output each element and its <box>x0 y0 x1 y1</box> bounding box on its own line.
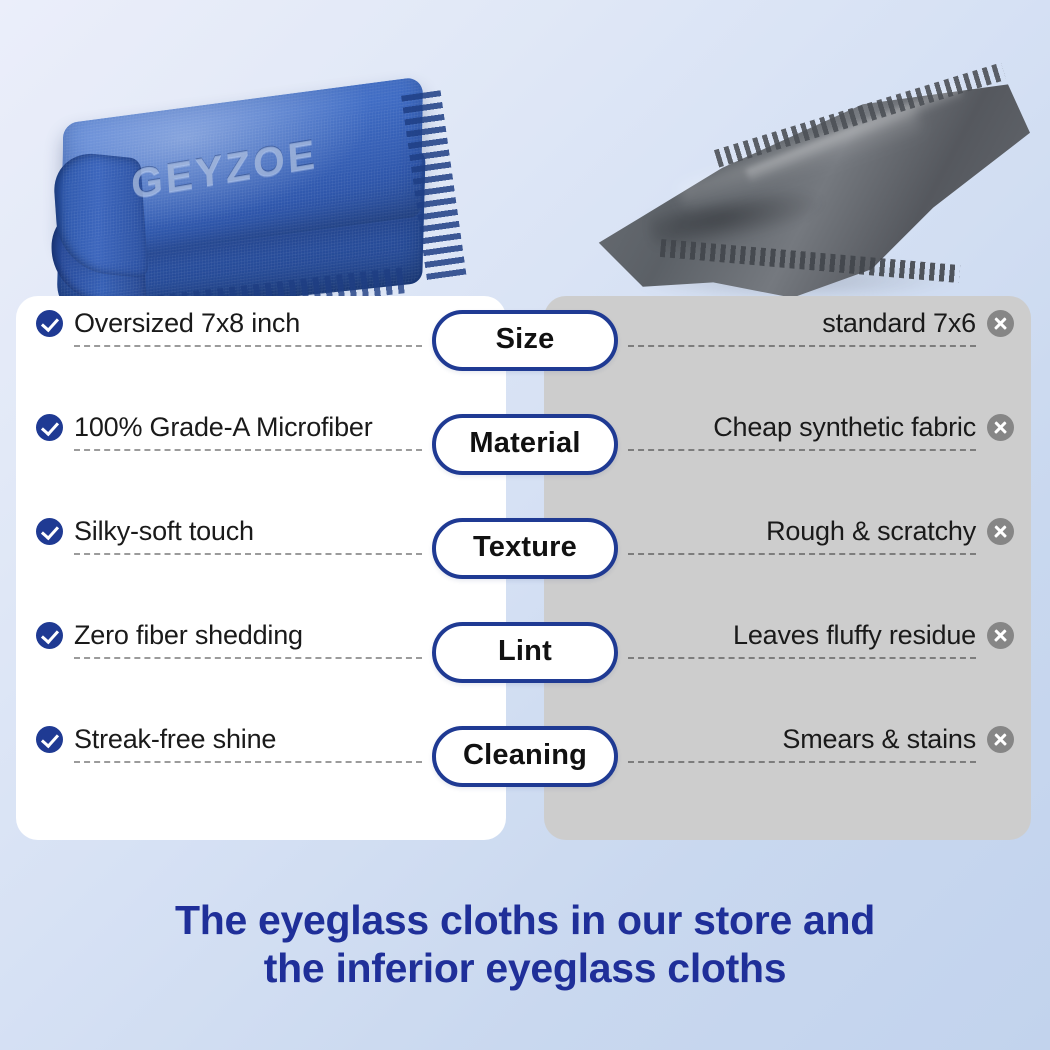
bad-item-label: Cheap synthetic fabric <box>713 412 976 442</box>
bad-item-cleaning: Smears & stains <box>628 724 1014 763</box>
x-circle-icon <box>987 414 1014 441</box>
bad-item-label: Smears & stains <box>782 724 976 754</box>
comparison-row-cleaning: Streak-free shine Cleaning Smears & stai… <box>0 712 1050 816</box>
category-pill-material[interactable]: Material <box>432 414 618 475</box>
row-divider <box>74 761 422 763</box>
gray-cloth-photo <box>590 70 1030 320</box>
row-divider <box>74 657 422 659</box>
bad-item-lint: Leaves fluffy residue <box>628 620 1014 659</box>
check-circle-icon <box>36 622 63 649</box>
infographic-canvas: GEYZOE Oversized 7x8 inch Size <box>0 0 1050 1050</box>
product-photo-band: GEYZOE <box>0 0 1050 300</box>
row-divider <box>628 553 976 555</box>
x-circle-icon <box>987 518 1014 545</box>
bad-item-label: Leaves fluffy residue <box>733 620 976 650</box>
comparison-row-size: Oversized 7x8 inch Size standard 7x6 <box>0 296 1050 400</box>
check-circle-icon <box>36 518 63 545</box>
comparison-row-material: 100% Grade-A Microfiber Material Cheap s… <box>0 400 1050 504</box>
good-item-cleaning: Streak-free shine <box>36 724 422 763</box>
x-circle-icon <box>987 310 1014 337</box>
row-divider <box>628 345 976 347</box>
check-circle-icon <box>36 414 63 441</box>
good-item-material: 100% Grade-A Microfiber <box>36 412 422 451</box>
bad-item-label: standard 7x6 <box>822 308 976 338</box>
check-circle-icon <box>36 726 63 753</box>
comparison-row-texture: Silky-soft touch Texture Rough & scratch… <box>0 504 1050 608</box>
good-item-size: Oversized 7x8 inch <box>36 308 422 347</box>
good-item-label: Oversized 7x8 inch <box>74 308 300 338</box>
category-pill-lint[interactable]: Lint <box>432 622 618 683</box>
caption-line-2: the inferior eyeglass cloths <box>0 944 1050 992</box>
x-circle-icon <box>987 726 1014 753</box>
caption: The eyeglass cloths in our store and the… <box>0 896 1050 993</box>
bad-item-label: Rough & scratchy <box>766 516 976 546</box>
check-circle-icon <box>36 310 63 337</box>
row-divider <box>628 449 976 451</box>
caption-line-1: The eyeglass cloths in our store and <box>0 896 1050 944</box>
row-divider <box>74 553 422 555</box>
bad-item-texture: Rough & scratchy <box>628 516 1014 555</box>
comparison-table: Oversized 7x8 inch Size standard 7x6 100… <box>0 296 1050 840</box>
good-item-texture: Silky-soft touch <box>36 516 422 555</box>
good-item-lint: Zero fiber shedding <box>36 620 422 659</box>
good-item-label: Streak-free shine <box>74 724 276 754</box>
category-pill-size[interactable]: Size <box>432 310 618 371</box>
row-divider <box>74 345 422 347</box>
good-item-label: Zero fiber shedding <box>74 620 303 650</box>
blue-microfiber-cloth-photo: GEYZOE <box>48 58 448 313</box>
row-divider <box>74 449 422 451</box>
category-pill-texture[interactable]: Texture <box>432 518 618 579</box>
x-circle-icon <box>987 622 1014 649</box>
good-item-label: 100% Grade-A Microfiber <box>74 412 373 442</box>
comparison-row-lint: Zero fiber shedding Lint Leaves fluffy r… <box>0 608 1050 712</box>
row-divider <box>628 761 976 763</box>
category-pill-cleaning[interactable]: Cleaning <box>432 726 618 787</box>
row-divider <box>628 657 976 659</box>
good-item-label: Silky-soft touch <box>74 516 254 546</box>
bad-item-material: Cheap synthetic fabric <box>628 412 1014 451</box>
bad-item-size: standard 7x6 <box>628 308 1014 347</box>
